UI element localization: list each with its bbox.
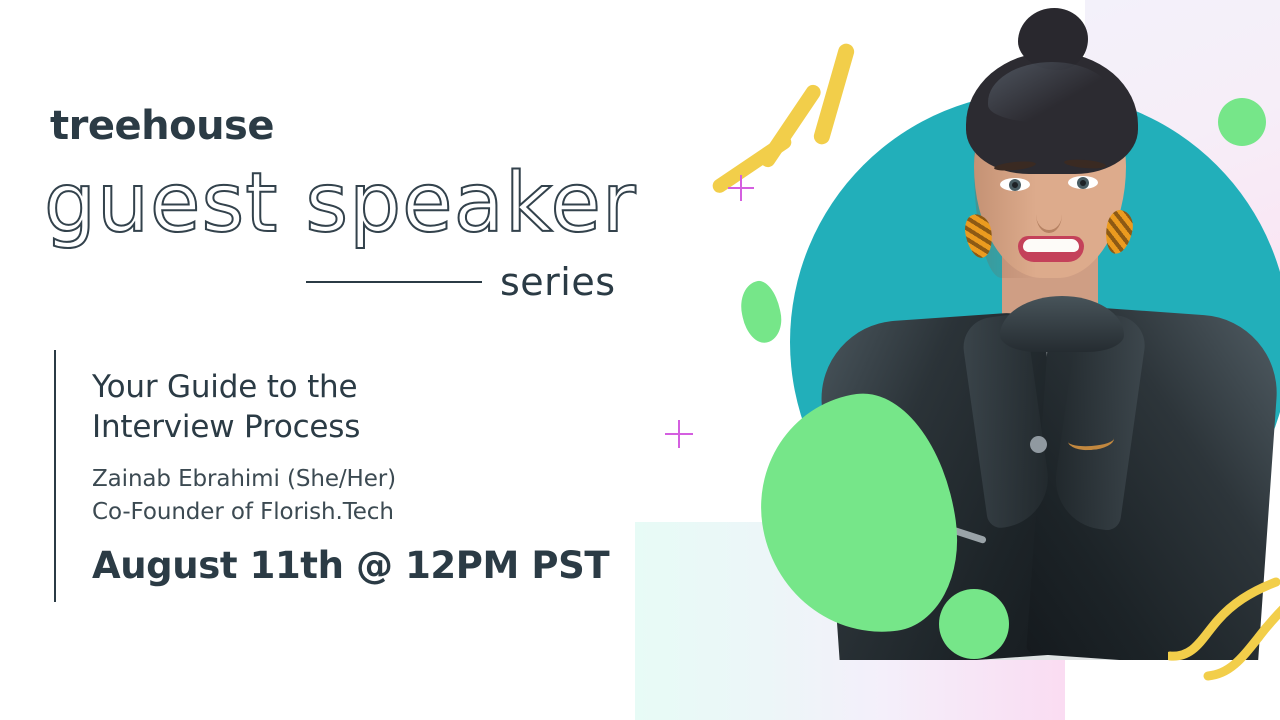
portrait-nose (1036, 196, 1062, 233)
green-blob-small-icon (736, 278, 786, 347)
plus-mark-icon-lower (665, 420, 693, 448)
guest-speaker-promo-slide: treehouse guest speaker series Your Guid… (0, 0, 1280, 720)
speaker-name: Zainab Ebrahimi (She/Her) (92, 463, 612, 496)
series-label: series (500, 263, 616, 301)
yellow-squiggle-icon (1168, 576, 1280, 686)
talk-title-line-2: Interview Process (92, 408, 612, 448)
headline-outline: guest speaker (44, 163, 637, 245)
green-circle-bottom-icon (939, 589, 1009, 659)
event-datetime: August 11th @ 12PM PST (92, 547, 612, 584)
brand-wordmark: treehouse (50, 106, 274, 146)
portrait-mouth (1018, 236, 1084, 262)
portrait-eye-left (1000, 178, 1030, 191)
portrait-eye-right (1068, 176, 1098, 189)
portrait-jacket-snap (1030, 436, 1047, 453)
speaker-role: Co-Founder of Florish.Tech (92, 496, 612, 529)
series-row: series (306, 258, 624, 306)
series-divider-rule (306, 281, 482, 283)
detail-vertical-rule (54, 350, 56, 602)
portrait-hair-bun (1018, 8, 1088, 70)
plus-mark-icon-upper (728, 175, 754, 201)
talk-title-line-1: Your Guide to the (92, 368, 612, 408)
event-detail-block: Your Guide to the Interview Process Zain… (92, 368, 612, 584)
